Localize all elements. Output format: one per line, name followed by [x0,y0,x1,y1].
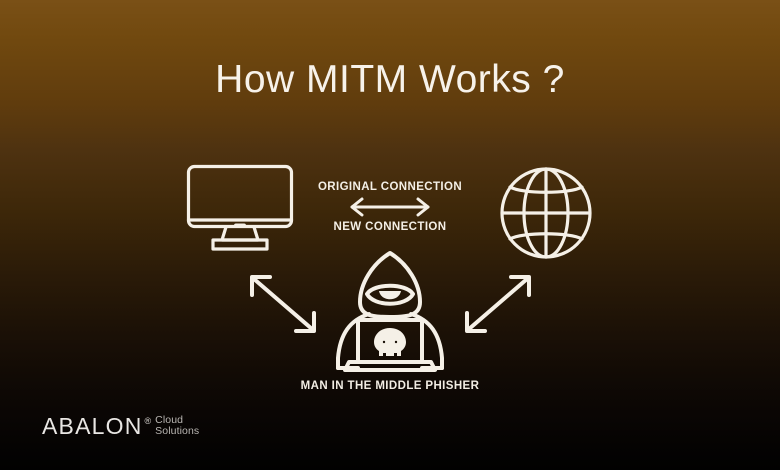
hooded-hacker-laptop-icon [322,250,458,374]
new-connection-label: NEW CONNECTION [300,220,480,234]
slide-canvas: How MITM Works ? ORIGINAL CONNECTION [0,0,780,470]
globe-icon [496,166,596,260]
monitor-icon [186,164,294,254]
connection-labels: ORIGINAL CONNECTION NEW CONNECTION [300,180,480,234]
right-double-arrow-icon [458,268,538,340]
logo-tagline-line2: Solutions [155,426,199,437]
page-title: How MITM Works ? [0,58,780,102]
brand-logo: ABALON ® Cloud Solutions [42,414,199,438]
logo-brand-text: ABALON [42,414,143,438]
attacker-label: MAN IN THE MIDDLE PHISHER [240,380,540,392]
left-double-arrow-icon [243,268,323,340]
logo-tagline: Cloud Solutions [155,415,199,437]
original-connection-label: ORIGINAL CONNECTION [300,180,480,194]
center-double-arrow-icon [300,194,480,220]
registered-trademark-icon: ® [145,416,152,426]
